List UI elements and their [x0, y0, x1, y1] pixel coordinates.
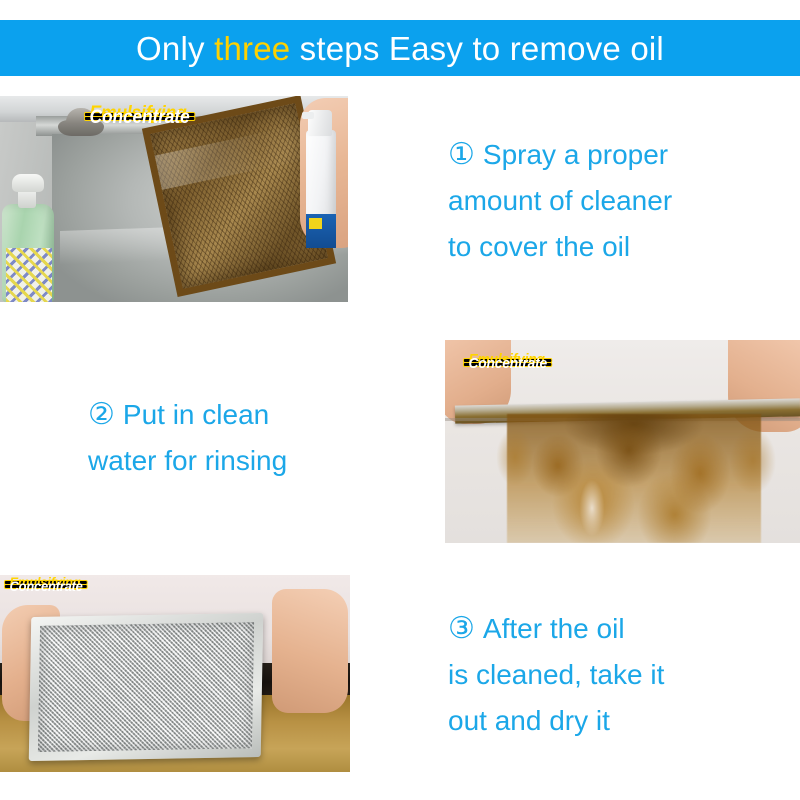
infographic-page: Only three steps Easy to remove oil Emul…	[0, 0, 800, 800]
soap-bottle-pump	[12, 174, 44, 192]
grease-plume-gap	[577, 474, 607, 542]
step-3-line-3: out and dry it	[448, 698, 664, 744]
greasy-filter-sheen	[155, 125, 307, 190]
step-3-line-1-text: After the oil	[483, 613, 625, 644]
product-badge: Emulsifying Concentrate	[4, 580, 95, 589]
banner-title-highlight: three	[214, 30, 290, 67]
step-1-number: ①	[448, 138, 475, 171]
product-badge-line-2: Concentrate	[463, 362, 553, 367]
hand-right-lifting-filter	[272, 589, 348, 713]
photo-step-3	[0, 575, 350, 772]
banner-title-part-before: Only	[136, 30, 214, 67]
spray-bottle-label-mark	[309, 218, 322, 229]
step-3-line-1: ③After the oil	[448, 606, 664, 652]
step-3-line-2: is cleaned, take it	[448, 652, 664, 698]
banner-title: Only three steps Easy to remove oil	[136, 32, 664, 65]
step-2-line-1: ②Put in clean	[88, 392, 287, 438]
soap-bottle-label	[6, 248, 52, 302]
step-2-line-1-text: Put in clean	[123, 399, 269, 430]
clean-filter-mesh	[38, 622, 254, 752]
grease-plume-wisp-right	[721, 424, 785, 516]
step-1-line-1: ①Spray a proper	[448, 132, 672, 178]
grease-plume-wisp-left	[489, 426, 541, 504]
product-badge-line-2: Concentrate	[84, 116, 195, 121]
product-badge: Emulsifying Concentrate	[84, 112, 205, 121]
header-banner: Only three steps Easy to remove oil	[0, 20, 800, 76]
step-1-line-1-text: Spray a proper	[483, 139, 668, 170]
product-badge-line-2: Concentrate	[4, 584, 88, 589]
clean-filter-frame	[29, 613, 263, 761]
banner-title-part-after: steps Easy to remove oil	[290, 30, 664, 67]
step-3-text: ③After the oil is cleaned, take it out a…	[448, 606, 664, 744]
product-badge: Emulsifying Concentrate	[463, 358, 560, 367]
spray-bottle-nozzle	[302, 112, 314, 119]
step-1-text: ①Spray a proper amount of cleaner to cov…	[448, 132, 672, 270]
step-1-line-3: to cover the oil	[448, 224, 672, 270]
step-1-line-2: amount of cleaner	[448, 178, 672, 224]
step-2-line-2: water for rinsing	[88, 438, 287, 484]
step-2-number: ②	[88, 398, 115, 431]
step-2-text: ②Put in clean water for rinsing	[88, 392, 287, 484]
step-3-number: ③	[448, 612, 475, 645]
